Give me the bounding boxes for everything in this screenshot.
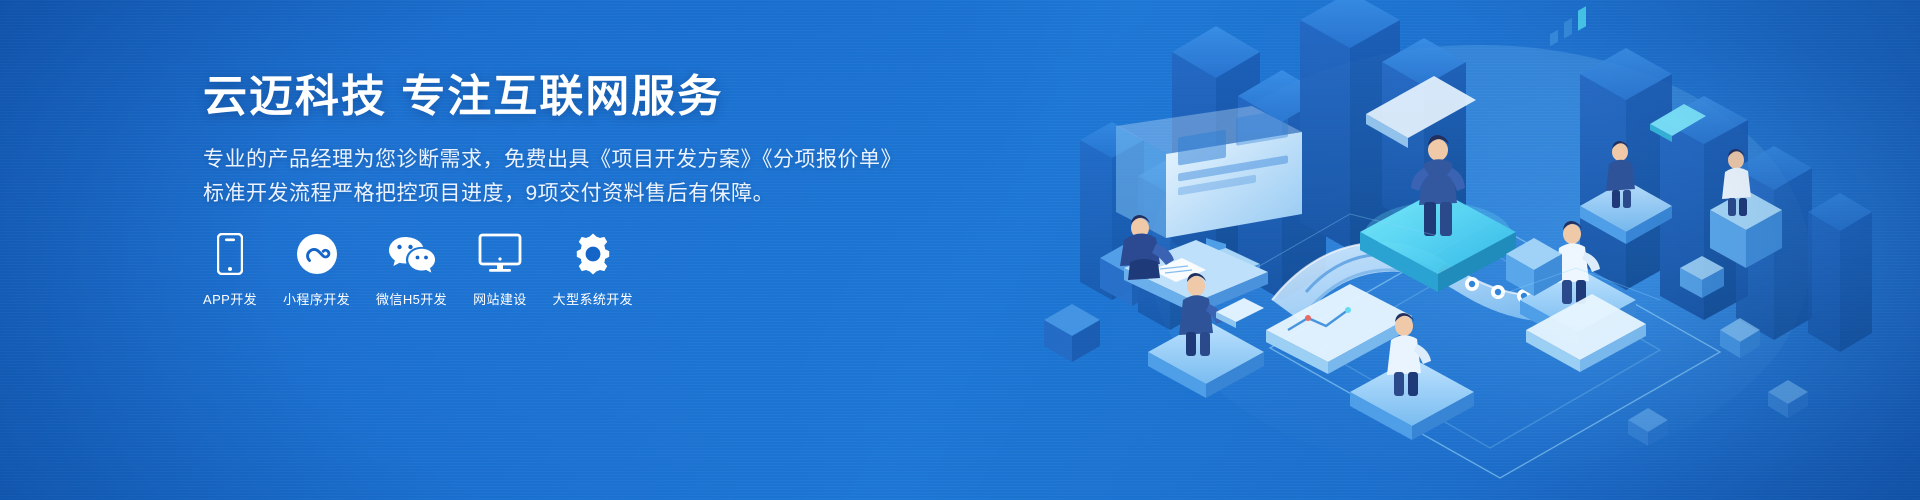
service-item-large-system[interactable]: 大型系统开发: [553, 232, 633, 308]
service-item-app[interactable]: APP开发: [203, 232, 257, 308]
service-item-mini-program[interactable]: 小程序开发: [283, 232, 350, 308]
service-label: 微信H5开发: [376, 289, 447, 308]
service-label: 小程序开发: [283, 289, 350, 308]
isometric-tech-team-illustration: [1020, 0, 1920, 500]
service-label: 网站建设: [473, 289, 527, 308]
monitor-icon: [478, 232, 522, 276]
service-item-wechat-h5[interactable]: 微信H5开发: [376, 232, 447, 308]
subtitle-line-2: 标准开发流程严格把控项目进度，9项交付资料售后有保障。: [203, 177, 923, 211]
service-label: APP开发: [203, 289, 257, 308]
wechat-icon: [387, 232, 437, 276]
gear-icon: [572, 232, 614, 276]
mini-program-icon: [296, 232, 338, 276]
mobile-phone-icon: [217, 232, 243, 276]
page-title: 云迈科技 专注互联网服务: [203, 72, 923, 121]
service-list: APP开发 小程序开发: [203, 232, 633, 308]
service-item-website[interactable]: 网站建设: [473, 232, 527, 308]
subtitle-line-1: 专业的产品经理为您诊断需求，免费出具《项目开发方案》《分项报价单》: [203, 143, 923, 177]
service-label: 大型系统开发: [553, 289, 633, 308]
banner-subtitle: 专业的产品经理为您诊断需求，免费出具《项目开发方案》《分项报价单》 标准开发流程…: [203, 143, 923, 211]
hero-banner: 云迈科技 专注互联网服务 专业的产品经理为您诊断需求，免费出具《项目开发方案》《…: [0, 0, 1920, 500]
banner-copy: 云迈科技 专注互联网服务 专业的产品经理为您诊断需求，免费出具《项目开发方案》《…: [203, 72, 923, 211]
